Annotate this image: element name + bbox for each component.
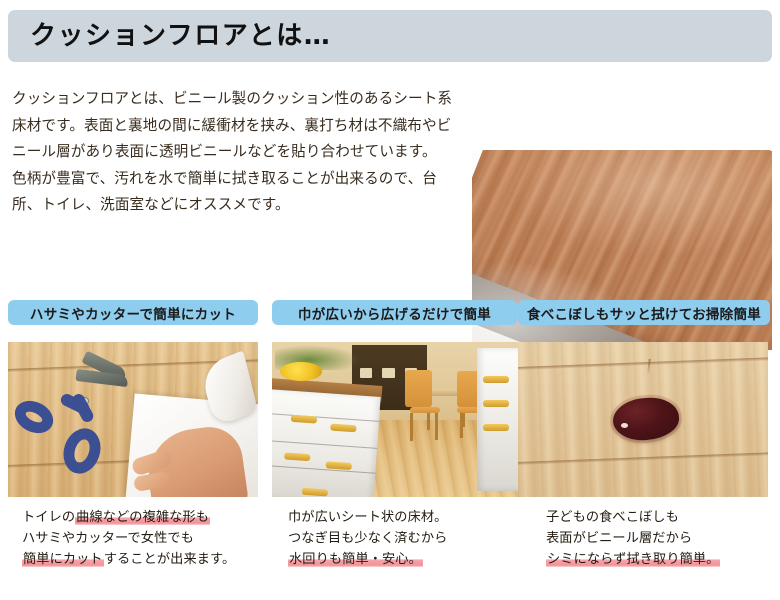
caption-text: つなぎ目も少なく済むから bbox=[288, 531, 447, 546]
caption-line: 子どもの食べこぼしも bbox=[546, 507, 770, 528]
kitchen-chair bbox=[405, 370, 433, 407]
feature-column-width: 巾が広いから広げるだけで簡単 bbox=[272, 300, 522, 570]
kitchen-appliance-column bbox=[477, 348, 522, 491]
kitchen-photo-base bbox=[272, 342, 522, 497]
kitchen-cabinets bbox=[272, 389, 381, 497]
caption-line: ハサミやカッターで女性でも bbox=[22, 528, 260, 549]
caption-text: 表面がビニール層だから bbox=[546, 531, 692, 546]
shelf-light bbox=[382, 368, 395, 377]
page-root: クッションフロアとは… クッションフロアとは、ビニール製のクッション性のあるシー… bbox=[0, 0, 780, 600]
drawer-seam bbox=[272, 440, 377, 449]
feature-caption-width: 巾が広いシート状の床材。 つなぎ目も少なく済むから 水回りも簡単・安心。 bbox=[272, 507, 524, 570]
appliance-handle bbox=[483, 376, 509, 383]
feature-caption-cut: トイレの曲線などの複雑な形も ハサミやカッターで女性でも 簡単にカットすることが… bbox=[8, 507, 260, 570]
shelf-light bbox=[360, 368, 373, 377]
caption-line: 簡単にカットすることが出来ます。 bbox=[22, 549, 260, 570]
feature-photo-kitchen bbox=[272, 342, 522, 497]
feature-column-clean: 食べこぼしもサッと拭けてお掃除簡単 子どもの食べこぼしも 表面がビニール層だから… bbox=[518, 300, 768, 570]
drawer-seam bbox=[272, 465, 375, 474]
feature-label-cut: ハサミやカッターで簡単にカット bbox=[8, 300, 258, 325]
drawer-handle bbox=[330, 424, 356, 433]
feature-photo-scissors bbox=[8, 342, 258, 497]
feature-label-width: 巾が広いから広げるだけで簡単 bbox=[272, 300, 517, 325]
caption-line: トイレの曲線などの複雑な形も bbox=[22, 507, 260, 528]
kitchen-fruit-bowl bbox=[280, 362, 323, 381]
intro-paragraph-1: クッションフロアとは、ビニール製のクッション性のあるシート系床材です。表面と裏地… bbox=[12, 86, 464, 166]
page-title: クッションフロアとは… bbox=[8, 23, 331, 49]
spill-highlight bbox=[621, 423, 628, 428]
page-header-banner: クッションフロアとは… bbox=[8, 10, 772, 62]
caption-text-highlighted: 水回りも簡単・安心。 bbox=[288, 552, 423, 567]
feature-caption-clean: 子どもの食べこぼしも 表面がビニール層だから シミにならず拭き取り簡単。 bbox=[518, 507, 770, 570]
caption-line: シミにならず拭き取り簡単。 bbox=[546, 549, 770, 570]
intro-section: クッションフロアとは、ビニール製のクッション性のあるシート系床材です。表面と裏地… bbox=[0, 72, 780, 287]
caption-line: つなぎ目も少なく済むから bbox=[288, 528, 524, 549]
caption-text-highlighted: 簡単にカット bbox=[22, 552, 104, 567]
chair-leg bbox=[460, 413, 463, 438]
caption-text: 巾が広いシート状の床材。 bbox=[288, 510, 447, 525]
intro-paragraph-2: 色柄が豊富で、汚れを水で簡単に拭き取ることが出来るので、台所、トイレ、洗面室など… bbox=[12, 166, 464, 219]
caption-line: 表面がビニール層だから bbox=[546, 528, 770, 549]
chair-leg bbox=[410, 413, 413, 441]
caption-text-highlighted: 曲線などの複雑な形も bbox=[75, 510, 210, 525]
caption-line: 水回りも簡単・安心。 bbox=[288, 549, 524, 570]
intro-text-block: クッションフロアとは、ビニール製のクッション性のあるシート系床材です。表面と裏地… bbox=[12, 86, 464, 219]
drawer-handle bbox=[291, 415, 317, 424]
caption-text: することが出来ます。 bbox=[104, 552, 236, 567]
caption-text-highlighted: シミにならず拭き取り簡単。 bbox=[546, 552, 720, 567]
appliance-handle bbox=[483, 400, 509, 407]
chair-leg bbox=[435, 413, 438, 439]
caption-line: 巾が広いシート状の床材。 bbox=[288, 507, 524, 528]
feature-label-clean: 食べこぼしもサッと拭けてお掃除簡単 bbox=[518, 300, 770, 325]
feature-columns: ハサミやカッターで簡単にカット トイレの曲線などの bbox=[0, 300, 780, 600]
drawer-seam bbox=[272, 413, 379, 422]
caption-text: ハサミやカッターで女性でも bbox=[22, 531, 194, 546]
feature-photo-spill bbox=[518, 342, 768, 497]
appliance-handle bbox=[483, 424, 509, 431]
feature-column-cut: ハサミやカッターで簡単にカット トイレの曲線などの bbox=[8, 300, 258, 570]
caption-text: 子どもの食べこぼしも bbox=[546, 510, 679, 525]
caption-text: トイレの bbox=[22, 510, 75, 525]
drawer-handle bbox=[284, 453, 310, 462]
drawer-handle bbox=[302, 488, 328, 497]
